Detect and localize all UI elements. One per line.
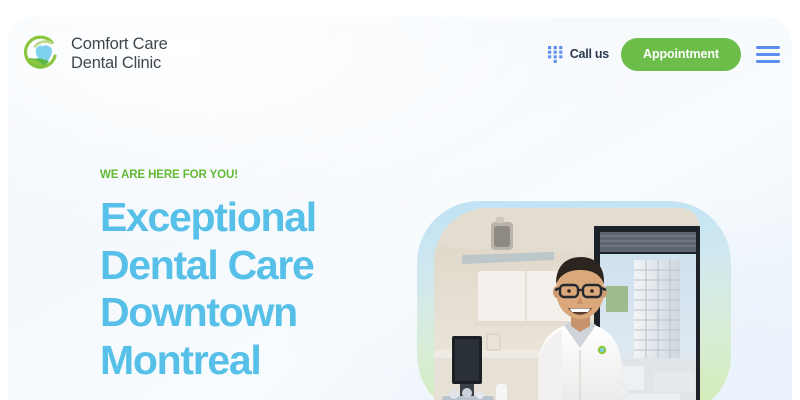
call-us-link[interactable]: Call us: [548, 46, 609, 63]
dialpad-icon: [548, 46, 563, 63]
headline-line-3: Downtown: [100, 289, 430, 337]
brand-name-line1: Comfort Care: [71, 35, 168, 54]
dentist-photo-illustration: [434, 208, 700, 400]
hero-photo: [434, 208, 700, 400]
hamburger-menu-icon[interactable]: [756, 46, 780, 63]
site-header: Comfort Care Dental Clinic: [8, 17, 792, 91]
leaf-tooth-logo-icon: [22, 34, 62, 74]
headline-line-2: Dental Care: [100, 242, 430, 290]
brand-name-line2: Dental Clinic: [71, 54, 168, 73]
headline-line-4: Montreal: [100, 337, 430, 385]
header-actions: Call us Appointment: [548, 38, 780, 71]
hero-panel: Comfort Care Dental Clinic: [8, 17, 792, 400]
page-title: Exceptional Dental Care Downtown Montrea…: [100, 194, 430, 384]
hero-copy: WE ARE HERE FOR YOU! Exceptional Dental …: [100, 169, 430, 400]
brand-logo[interactable]: Comfort Care Dental Clinic: [22, 34, 168, 74]
appointment-button[interactable]: Appointment: [621, 38, 741, 71]
hamburger-line: [756, 53, 780, 56]
hero-eyebrow: WE ARE HERE FOR YOU!: [100, 169, 430, 181]
call-us-label: Call us: [570, 47, 609, 61]
page-root: Comfort Care Dental Clinic: [0, 0, 800, 400]
hamburger-line: [756, 46, 780, 49]
brand-name: Comfort Care Dental Clinic: [71, 35, 168, 73]
headline-line-1: Exceptional: [100, 194, 430, 242]
hero-image-backdrop: [417, 201, 731, 400]
hamburger-line: [756, 60, 780, 63]
